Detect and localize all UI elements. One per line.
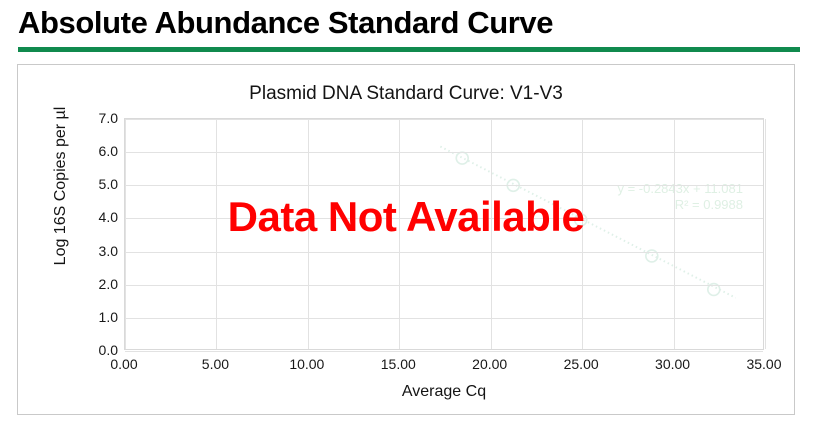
y-axis-tick-label: 7.0: [72, 110, 118, 126]
x-axis-tick-label: 10.00: [272, 356, 342, 372]
y-axis-label: Log 16S Copies per µl: [52, 81, 70, 291]
x-axis-tick-label: 5.00: [180, 356, 250, 372]
y-axis-tick-label: 3.0: [72, 243, 118, 259]
y-axis-tick-label: 6.0: [72, 143, 118, 159]
title-underline-rule: [18, 47, 800, 52]
slide-header: Absolute Abundance Standard Curve: [18, 4, 798, 52]
y-axis-tick-label: 5.0: [72, 176, 118, 192]
x-axis-tick-label: 0.00: [89, 356, 159, 372]
x-axis-tick-label: 25.00: [546, 356, 616, 372]
page-title: Absolute Abundance Standard Curve: [18, 4, 798, 42]
gridline-horizontal: [125, 119, 763, 120]
data-point-marker: [456, 152, 468, 164]
gridline-horizontal: [125, 152, 763, 153]
data-not-available-overlay: Data Not Available: [18, 193, 794, 241]
x-axis-label: Average Cq: [124, 383, 764, 401]
y-axis-tick-label: 2.0: [72, 276, 118, 292]
x-axis-tick-label: 15.00: [363, 356, 433, 372]
gridline-horizontal: [125, 252, 763, 253]
y-axis-tick-label: 1.0: [72, 309, 118, 325]
chart-title: Plasmid DNA Standard Curve: V1-V3: [18, 83, 794, 105]
x-axis-tick-label: 35.00: [729, 356, 799, 372]
gridline-horizontal: [125, 285, 763, 286]
gridline-horizontal: [125, 351, 763, 352]
x-axis-ticks: 0.005.0010.0015.0020.0025.0030.0035.00: [124, 356, 764, 376]
x-axis-tick-label: 30.00: [638, 356, 708, 372]
x-axis-tick-label: 20.00: [455, 356, 525, 372]
chart-container: Plasmid DNA Standard Curve: V1-V3 Log 16…: [17, 64, 795, 415]
gridline-horizontal: [125, 185, 763, 186]
gridline-horizontal: [125, 318, 763, 319]
